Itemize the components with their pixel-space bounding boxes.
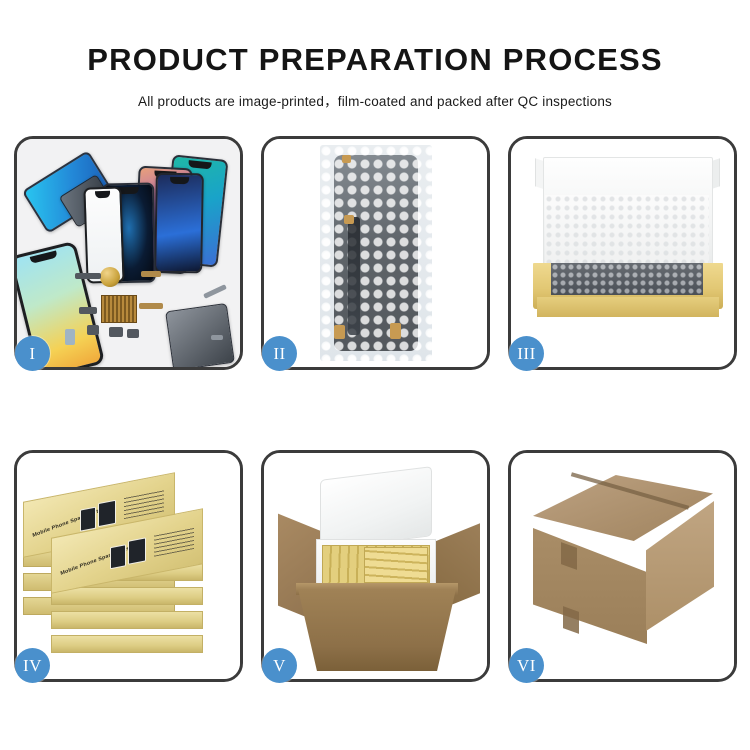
carton-body [298,589,456,671]
step-badge-5: V [262,648,297,683]
spare-part [65,329,75,345]
stacked-box-edge [51,635,203,653]
spare-part [87,325,99,335]
stacked-box-edge [51,587,203,605]
page-subtitle: All products are image-printed，film-coat… [0,77,750,110]
spare-part [127,329,139,338]
photo-foam-lined-box [511,139,734,367]
box-stack: Mobile Phone Spare Parts Mobile Pho [17,453,240,679]
logic-board-part [101,295,137,323]
photo-sealed-carton [511,453,734,679]
step-badge-4: IV [15,648,50,683]
phone-rear-housing [165,303,235,367]
foam-box-lid [320,466,432,550]
tape-piece [334,325,345,339]
gray-foam-insert [551,263,703,295]
process-step-card-2: II [261,136,490,370]
product-preparation-infographic: PRODUCT PREPARATION PROCESS All products… [0,0,750,750]
phone-notch [30,250,58,263]
box-artwork-phone [110,544,126,569]
spare-part [75,273,101,279]
tape-piece [390,323,401,339]
page-title: PRODUCT PREPARATION PROCESS [0,0,750,77]
stacked-box-edge [51,611,203,629]
step-badge-1: I [15,336,50,371]
step-3-photo-frame [511,139,734,367]
white-foam-sheet [545,195,709,265]
step-1-photo-frame [17,139,240,367]
process-step-card-6: VI [508,450,737,682]
box-artwork-phone [128,537,146,564]
phone-notch [188,160,211,169]
photo-stacked-retail-boxes: Mobile Phone Spare Parts Mobile Pho [17,453,240,679]
spare-part [141,271,161,277]
box-artwork-phone [80,507,96,532]
photo-product-components [17,139,240,367]
step-badge-2: II [262,336,297,371]
kraft-box-front-panel [537,297,719,317]
tape-piece [344,215,354,224]
process-step-grid: I II [14,136,736,682]
box-artwork-phone [98,500,116,527]
phone-notch [95,191,110,199]
tape-piece [342,155,351,163]
yellow-product-boxes [364,547,428,583]
step-6-photo-frame [511,453,734,679]
spare-part [203,284,227,299]
spare-part [109,327,123,337]
carton-left-face [533,528,647,644]
process-step-card-3: III [508,136,737,370]
photo-packed-carton [264,453,487,679]
phone-notch [170,177,189,184]
process-step-card-4: Mobile Phone Spare Parts Mobile Pho [14,450,243,682]
box-artwork-text-block [154,527,194,557]
phone-blue [154,173,204,274]
photo-bubble-wrapped-screen [264,139,487,367]
header: PRODUCT PREPARATION PROCESS All products… [0,0,750,110]
step-badge-3: III [509,336,544,371]
process-step-card-1: I [14,136,243,370]
flex-cable [348,217,360,335]
speaker-part [100,267,120,287]
spare-part [211,335,223,340]
spare-part [79,307,97,314]
process-step-card-5: V [261,450,490,682]
carton-tape-patch [563,606,579,634]
spare-part [139,303,163,309]
step-4-photo-frame: Mobile Phone Spare Parts Mobile Pho [17,453,240,679]
step-2-photo-frame [264,139,487,367]
step-5-photo-frame [264,453,487,679]
step-badge-6: VI [509,648,544,683]
box-artwork-text-block [124,489,164,519]
